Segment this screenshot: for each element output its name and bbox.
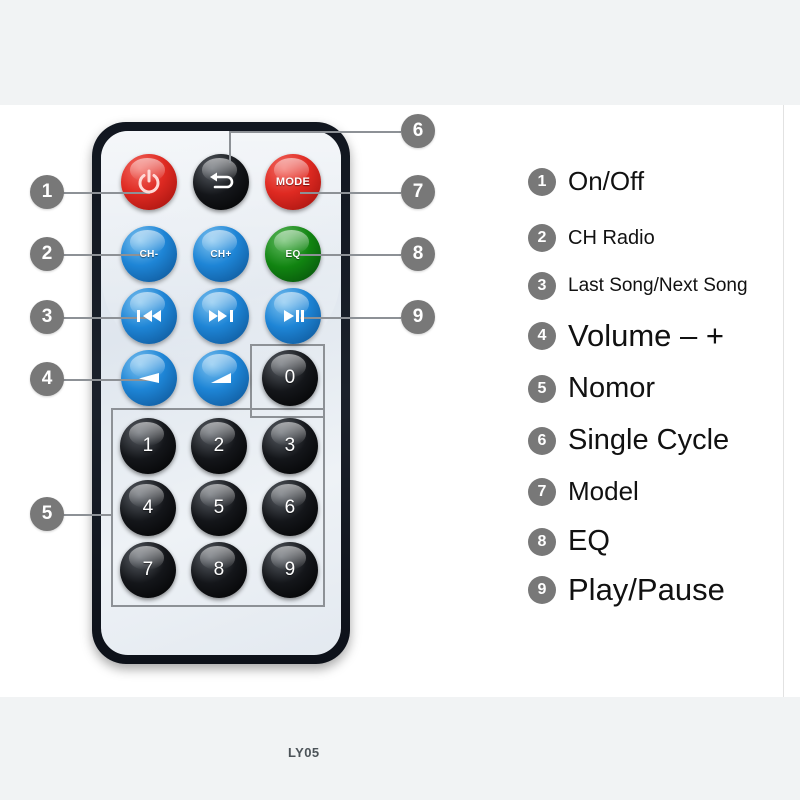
legend-item-9[interactable]: 9 Play/Pause	[528, 572, 725, 608]
callout-badge-3[interactable]: 3	[30, 300, 64, 334]
mode-button-label: MODE	[276, 176, 310, 188]
volume-up-button[interactable]	[193, 350, 249, 406]
background-band-bottom	[0, 697, 800, 800]
number-key-8[interactable]: 8	[191, 542, 247, 598]
callout-badge-2[interactable]: 2	[30, 237, 64, 271]
number-key-4-label: 4	[143, 497, 154, 519]
callout-badge-9[interactable]: 9	[401, 300, 435, 334]
legend-badge-3: 3	[528, 272, 556, 300]
legend-item-2[interactable]: 2 CH Radio	[528, 224, 655, 252]
number-key-4[interactable]: 4	[120, 480, 176, 536]
next-track-button[interactable]	[193, 288, 249, 344]
number-key-5-label: 5	[214, 497, 225, 519]
number-key-6[interactable]: 6	[262, 480, 318, 536]
number-key-6-label: 6	[285, 497, 296, 519]
callout-7-number: 7	[413, 181, 424, 203]
callout-5-number: 5	[42, 503, 53, 525]
legend-badge-7: 7	[528, 478, 556, 506]
callout-1-number: 1	[42, 181, 53, 203]
leader-line-2	[62, 254, 150, 256]
legend-badge-6: 6	[528, 427, 556, 455]
number-key-2[interactable]: 2	[191, 418, 247, 474]
number-key-3[interactable]: 3	[262, 418, 318, 474]
channel-up-button[interactable]: CH+	[193, 226, 249, 282]
legend-item-8[interactable]: 8 EQ	[528, 525, 610, 558]
legend-badge-9: 9	[528, 576, 556, 604]
legend-label-4: Volume – +	[568, 318, 724, 354]
play-pause-button[interactable]	[265, 288, 321, 344]
number-key-0-label: 0	[285, 367, 296, 389]
play-pause-icon	[280, 307, 306, 325]
number-key-1[interactable]: 1	[120, 418, 176, 474]
single-cycle-button[interactable]	[193, 154, 249, 210]
background-band-top	[0, 0, 800, 105]
legend-label-9: Play/Pause	[568, 572, 725, 608]
volume-down-button[interactable]	[121, 350, 177, 406]
legend-item-5[interactable]: 5 Nomor	[528, 372, 655, 405]
number-key-3-label: 3	[285, 435, 296, 457]
callout-badge-4[interactable]: 4	[30, 362, 64, 396]
volume-up-icon	[206, 369, 236, 387]
legend-label-3: Last Song/Next Song	[568, 275, 748, 297]
callout-badge-1[interactable]: 1	[30, 175, 64, 209]
channel-up-label: CH+	[210, 249, 231, 260]
number-key-9-label: 9	[285, 559, 296, 581]
callout-badge-5[interactable]: 5	[30, 497, 64, 531]
callout-badge-6[interactable]: 6	[401, 114, 435, 148]
repeat-loop-icon	[206, 169, 236, 195]
legend-badge-4: 4	[528, 322, 556, 350]
number-key-5[interactable]: 5	[191, 480, 247, 536]
next-track-icon	[206, 307, 236, 325]
figure-canvas: MODE CH- CH+ EQ	[0, 0, 800, 800]
callout-9-number: 9	[413, 306, 424, 328]
power-icon	[135, 168, 163, 196]
legend-item-4[interactable]: 4 Volume – +	[528, 318, 724, 354]
callout-2-number: 2	[42, 243, 53, 265]
legend-label-1: On/Off	[568, 166, 644, 197]
callout-badge-8[interactable]: 8	[401, 237, 435, 271]
leader-line-8	[300, 254, 401, 256]
legend-badge-2: 2	[528, 224, 556, 252]
leader-line-6-horizontal	[229, 131, 401, 133]
power-button[interactable]	[121, 154, 177, 210]
legend-item-1[interactable]: 1 On/Off	[528, 166, 644, 197]
page-edge-line	[783, 105, 784, 697]
eq-button-label: EQ	[285, 249, 300, 260]
legend-badge-5: 5	[528, 375, 556, 403]
leader-line-6-vertical	[229, 131, 231, 163]
previous-track-icon	[134, 307, 164, 325]
number-key-0[interactable]: 0	[262, 350, 318, 406]
legend-item-7[interactable]: 7 Model	[528, 476, 639, 507]
leader-line-7	[300, 192, 401, 194]
volume-down-icon	[134, 369, 164, 387]
remote-control-body: MODE CH- CH+ EQ	[92, 122, 350, 664]
mode-button[interactable]: MODE	[265, 154, 321, 210]
legend-label-8: EQ	[568, 525, 610, 558]
number-key-1-label: 1	[143, 435, 154, 457]
legend-label-5: Nomor	[568, 372, 655, 405]
legend-badge-8: 8	[528, 528, 556, 556]
channel-down-label: CH-	[140, 249, 159, 260]
number-key-7[interactable]: 7	[120, 542, 176, 598]
legend-label-2: CH Radio	[568, 227, 655, 250]
callout-8-number: 8	[413, 243, 424, 265]
callout-6-number: 6	[413, 120, 424, 142]
number-key-9[interactable]: 9	[262, 542, 318, 598]
callout-badge-7[interactable]: 7	[401, 175, 435, 209]
previous-track-button[interactable]	[121, 288, 177, 344]
legend-label-7: Model	[568, 476, 639, 507]
leader-line-5	[62, 514, 112, 516]
legend-item-3[interactable]: 3 Last Song/Next Song	[528, 272, 748, 300]
legend-item-6[interactable]: 6 Single Cycle	[528, 424, 729, 457]
legend-badge-1: 1	[528, 168, 556, 196]
callout-3-number: 3	[42, 306, 53, 328]
callout-4-number: 4	[42, 368, 53, 390]
remote-model-label: LY05	[288, 745, 319, 760]
leader-line-9	[300, 317, 401, 319]
number-key-7-label: 7	[143, 559, 154, 581]
number-key-8-label: 8	[214, 559, 225, 581]
legend-label-6: Single Cycle	[568, 424, 729, 457]
number-key-2-label: 2	[214, 435, 225, 457]
